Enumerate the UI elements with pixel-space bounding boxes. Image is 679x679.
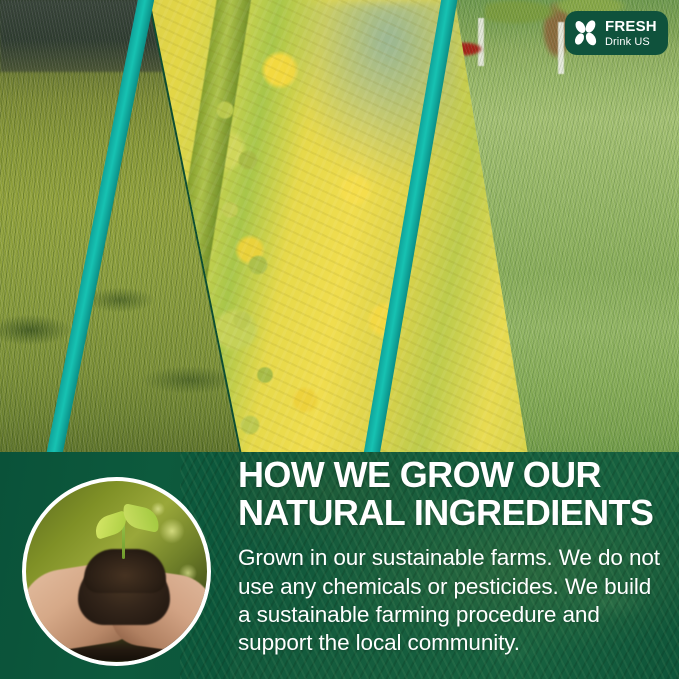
soil-mound-top	[84, 549, 166, 593]
brand-logo-badge[interactable]: FRESH Drink US	[565, 11, 668, 55]
feature-body-text: Grown in our sustainable farms. We do no…	[238, 544, 668, 657]
seedling-leaf-right	[120, 503, 162, 532]
photo-collage-band: FRESH Drink US	[0, 0, 679, 455]
fence-post-right	[558, 22, 564, 74]
leaf-cluster-icon	[572, 19, 599, 48]
hands-holding-seedling-photo	[22, 477, 211, 666]
feature-headline-line-1: HOW WE GROW OUR	[238, 456, 668, 494]
product-infographic-canvas: FRESH Drink US HOW WE GROW OUR NATURAL I…	[0, 0, 679, 679]
feature-text-block: HOW WE GROW OUR NATURAL INGREDIENTS Grow…	[238, 456, 668, 658]
fence-post-left	[478, 18, 484, 66]
brand-logo-text: FRESH Drink US	[605, 19, 657, 48]
feature-headline: HOW WE GROW OUR NATURAL INGREDIENTS	[238, 456, 668, 532]
brand-name: FRESH	[605, 19, 657, 34]
brand-tagline: Drink US	[605, 37, 657, 48]
feature-headline-line-2: NATURAL INGREDIENTS	[238, 494, 668, 532]
